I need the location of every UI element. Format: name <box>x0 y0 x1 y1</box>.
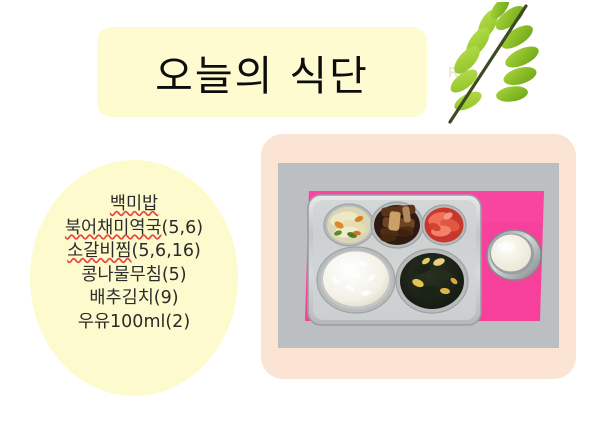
menu-item: 배추김치(9) <box>30 287 238 311</box>
menu-item-allergens: (2) <box>165 312 190 332</box>
leaf-branch-icon <box>430 2 542 124</box>
menu-item: 콩나물무침(5) <box>30 264 238 288</box>
menu-item-name: 소갈비찜 <box>67 241 131 261</box>
menu-item-name: 백미밥 <box>110 194 158 214</box>
menu-item-allergens: (5) <box>162 265 187 285</box>
menu-item-name: 북어채미역국 <box>65 218 162 238</box>
rf-watermark: RF <box>448 64 470 81</box>
menu-item: 우유100ml(2) <box>30 311 238 335</box>
menu-item-name: 콩나물무침 <box>81 265 162 285</box>
menu-item-allergens: (9) <box>154 288 179 308</box>
menu-item-allergens: (5,6,16) <box>132 241 201 261</box>
menu-item-allergens: (5,6) <box>162 218 204 238</box>
menu-item-name: 배추김치 <box>89 288 153 308</box>
school-lunch-tray-photo <box>278 163 559 348</box>
menu-item: 소갈비찜(5,6,16) <box>30 240 238 264</box>
menu-item: 북어채미역국(5,6) <box>30 217 238 241</box>
menu-item: 백미밥 <box>30 193 238 217</box>
menu-poster: 오늘의 식단 <box>0 0 600 425</box>
menu-item-name: 우유100ml <box>78 312 166 332</box>
page-title: 오늘의 식단 <box>97 27 427 117</box>
menu-list: 백미밥 북어채미역국(5,6) 소갈비찜(5,6,16) 콩나물무침(5) 배추… <box>30 193 238 334</box>
